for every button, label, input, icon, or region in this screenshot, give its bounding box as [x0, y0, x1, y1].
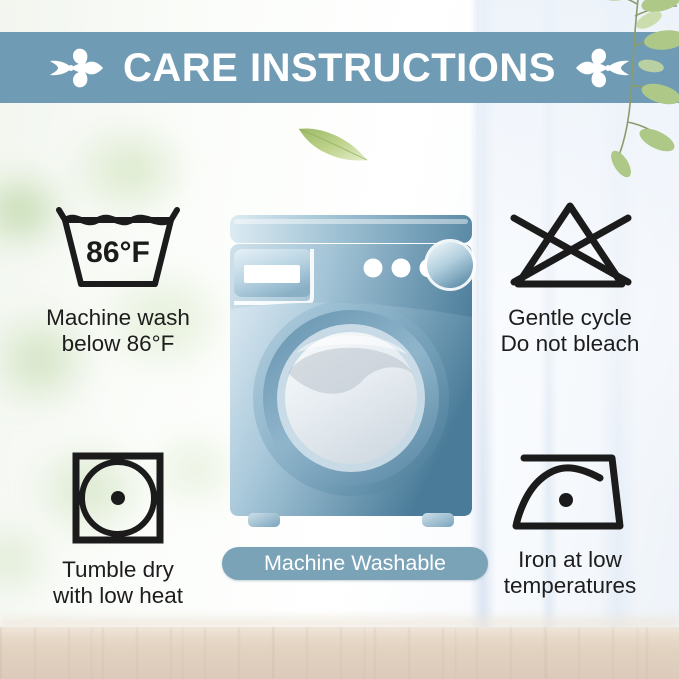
care-caption: Tumble dry with low heat	[12, 557, 224, 609]
control-dial-knob[interactable]	[427, 242, 473, 288]
care-caption: Iron at low temperatures	[466, 547, 674, 599]
care-symbol-machine-wash: 86°F Machine wash below 86°F	[12, 196, 224, 357]
fleur-de-lis-icon	[47, 46, 105, 90]
care-caption-line2: with low heat	[12, 583, 224, 609]
tumble-dry-low-icon	[68, 448, 168, 548]
machine-washable-label: Machine Washable	[264, 553, 446, 575]
machine-foot	[248, 513, 280, 527]
control-button[interactable]	[392, 259, 411, 278]
drawer-slot	[244, 265, 300, 283]
washing-machine-illustration	[226, 213, 476, 533]
banner: CARE INSTRUCTIONS	[0, 32, 679, 103]
care-caption-line2: below 86°F	[12, 331, 224, 357]
machine-foot	[422, 513, 454, 527]
floating-leaf-icon	[296, 120, 370, 166]
care-caption-line1: Iron at low	[466, 547, 674, 573]
care-caption-line2: Do not bleach	[466, 331, 674, 357]
do-not-bleach-triangle-icon	[504, 196, 636, 296]
care-caption-line2: temperatures	[466, 573, 674, 599]
care-caption: Machine wash below 86°F	[12, 305, 224, 357]
care-caption-line1: Machine wash	[12, 305, 224, 331]
table-edge-highlight	[0, 611, 679, 627]
care-symbol-tumble-dry: Tumble dry with low heat	[12, 448, 224, 609]
machine-washable-badge: Machine Washable	[222, 547, 488, 580]
care-caption-line1: Tumble dry	[12, 557, 224, 583]
fleur-de-lis-icon	[574, 46, 632, 90]
care-symbol-iron-low: Iron at low temperatures	[466, 448, 674, 599]
care-symbol-do-not-bleach: Gentle cycle Do not bleach	[466, 196, 674, 357]
wash-tub-icon: 86°F	[49, 196, 187, 296]
care-caption: Gentle cycle Do not bleach	[466, 305, 674, 357]
care-instructions-infographic: CARE INSTRUCTIONS	[0, 0, 679, 679]
wash-temperature-label: 86°F	[86, 236, 150, 269]
control-button[interactable]	[364, 259, 383, 278]
top-highlight	[234, 219, 468, 224]
care-caption-line1: Gentle cycle	[466, 305, 674, 331]
wooden-table-surface	[0, 627, 679, 679]
banner-title: CARE INSTRUCTIONS	[123, 48, 556, 88]
iron-low-heat-icon	[508, 448, 632, 538]
